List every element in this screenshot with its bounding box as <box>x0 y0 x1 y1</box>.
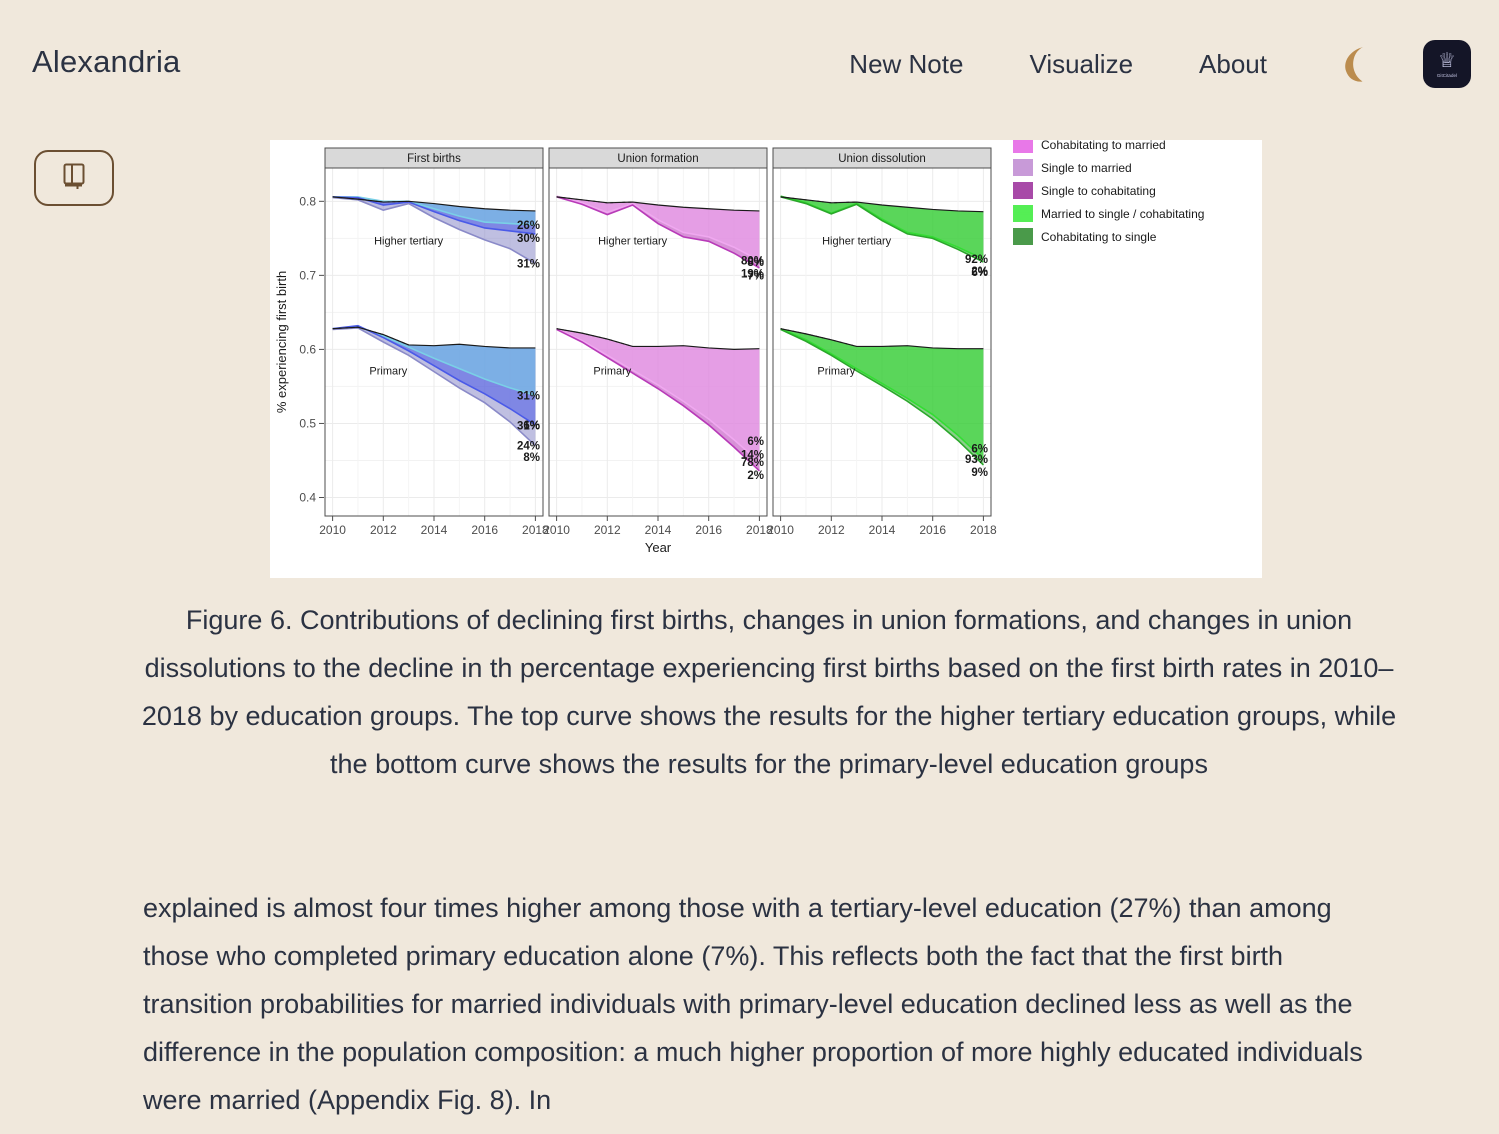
end-value-label: 9% <box>971 467 988 479</box>
y-tick-label: 0.8 <box>299 194 316 208</box>
y-tick-label: 0.6 <box>299 342 316 356</box>
figure-chart[interactable]: % experiencing first birth0.40.50.60.70.… <box>270 140 1262 578</box>
x-tick-label: 2016 <box>471 523 498 537</box>
end-value-label: 31% <box>517 390 540 402</box>
legend-item[interactable]: Cohabitating to single <box>1013 228 1157 245</box>
legend-label: Married to single / cohabitating <box>1041 207 1204 221</box>
legend-label: Single to married <box>1041 161 1132 175</box>
end-value-label: 14% <box>741 450 764 462</box>
moon-icon[interactable] <box>1333 43 1373 85</box>
x-tick-label: 2014 <box>645 523 672 537</box>
legend-label: Single to cohabitating <box>1041 184 1156 198</box>
end-value-label: 8% <box>747 257 764 269</box>
nav-link-about[interactable]: About <box>1199 49 1267 80</box>
site-header: Alexandria New Note Visualize About ♕ Gi… <box>0 0 1499 128</box>
nav-link-visualize[interactable]: Visualize <box>1029 49 1133 80</box>
book-button[interactable] <box>34 150 114 206</box>
chart-svg: % experiencing first birth0.40.50.60.70.… <box>270 140 1262 578</box>
group-label: Higher tertiary <box>598 235 668 247</box>
app-logo[interactable]: ♕ GitCitadel <box>1423 40 1471 88</box>
legend-item[interactable]: Cohabitating to married <box>1013 140 1166 153</box>
gitcitadel-helmet-icon: ♕ <box>1438 51 1456 71</box>
end-value-label: 92% <box>965 254 988 266</box>
end-value-label: 30% <box>517 233 540 245</box>
legend-item[interactable]: Married to single / cohabitating <box>1013 205 1204 222</box>
x-tick-label: 2010 <box>319 523 346 537</box>
x-tick-label: 2014 <box>421 523 448 537</box>
y-tick-label: 0.5 <box>299 416 316 430</box>
legend-label: Cohabitating to single <box>1041 230 1157 244</box>
x-axis-label: Year <box>645 540 672 555</box>
x-tick-label: 2018 <box>970 523 997 537</box>
x-tick-label: 2012 <box>594 523 621 537</box>
book-icon <box>61 162 87 195</box>
end-value-label: 8% <box>523 452 540 464</box>
y-axis-label: % experiencing first birth <box>274 271 289 413</box>
chart-panel: Union formationHigher tertiary80%19%8%-7… <box>543 148 773 537</box>
figure-caption: Figure 6. Contributions of declining fir… <box>140 596 1398 788</box>
app-logo-label: GitCitadel <box>1437 73 1457 78</box>
panel-title: Union dissolution <box>838 153 926 165</box>
main-nav: New Note Visualize About ♕ GitCitadel <box>849 40 1471 88</box>
x-tick-label: 2016 <box>919 523 946 537</box>
end-value-label: 31% <box>517 259 540 271</box>
panel-title: First births <box>407 153 461 165</box>
end-value-label: -7% <box>744 270 764 282</box>
y-tick-label: 0.4 <box>299 490 316 504</box>
body-paragraph: explained is almost four times higher am… <box>143 884 1393 1124</box>
end-value-label: 93% <box>965 454 988 466</box>
group-label: Higher tertiary <box>822 235 892 247</box>
x-tick-label: 2012 <box>818 523 845 537</box>
legend-swatch <box>1013 140 1033 153</box>
legend-label: Cohabitating to married <box>1041 140 1166 152</box>
legend-item[interactable]: Single to married <box>1013 159 1132 176</box>
x-tick-label: 2012 <box>370 523 397 537</box>
x-tick-label: 2010 <box>767 523 794 537</box>
x-tick-label: 2014 <box>869 523 896 537</box>
end-value-label: 2% <box>971 266 988 278</box>
end-value-label: 2% <box>747 470 764 482</box>
end-value-label: 31% <box>517 421 540 433</box>
group-label: Primary <box>817 366 855 378</box>
y-tick-label: 0.7 <box>299 268 316 282</box>
group-label: Higher tertiary <box>374 235 444 247</box>
end-value-label: 6% <box>971 444 988 456</box>
chart-panel: Union dissolutionHigher tertiary92%6%2%P… <box>767 148 997 537</box>
group-label: Primary <box>369 366 407 378</box>
nav-link-new-note[interactable]: New Note <box>849 49 963 80</box>
end-value-label: 6% <box>747 436 764 448</box>
brand-title[interactable]: Alexandria <box>32 44 180 80</box>
x-tick-label: 2010 <box>543 523 570 537</box>
group-label: Primary <box>593 366 631 378</box>
chart-panel: First birthsHigher tertiary26%30%31%Prim… <box>319 148 549 537</box>
panel-title: Union formation <box>617 153 698 165</box>
x-tick-label: 2016 <box>695 523 722 537</box>
end-value-label: 26% <box>517 220 540 232</box>
legend-item[interactable]: Single to cohabitating <box>1013 182 1156 199</box>
